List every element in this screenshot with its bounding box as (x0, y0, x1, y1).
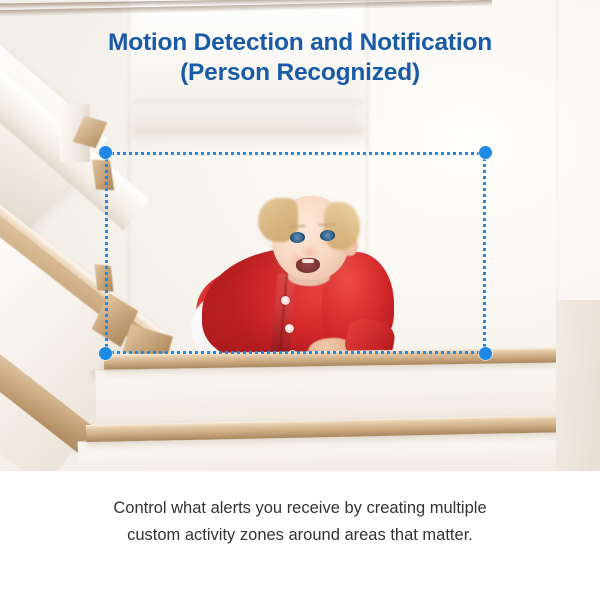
page-title-line-1: Motion Detection and Notification (108, 29, 492, 56)
zone-edge-left[interactable] (105, 152, 108, 354)
zone-handle-bottom-right[interactable] (479, 347, 492, 360)
caption-area: Control what alerts you receive by creat… (0, 471, 600, 600)
page-title: Motion Detection and Notification (Perso… (0, 28, 600, 89)
wall-right-panel (556, 300, 600, 471)
promo-card: Motion Detection and Notification (Perso… (0, 0, 600, 600)
caption-text: Control what alerts you receive by creat… (90, 495, 510, 548)
zone-edge-top[interactable] (105, 152, 486, 155)
zone-edge-right[interactable] (483, 152, 486, 354)
camera-view: Motion Detection and Notification (Perso… (0, 0, 600, 471)
zone-edge-bottom[interactable] (105, 351, 486, 354)
activity-zone-overlay[interactable] (105, 152, 486, 354)
zone-handle-top-right[interactable] (479, 146, 492, 159)
zone-handle-top-left[interactable] (99, 146, 112, 159)
zone-handle-bottom-left[interactable] (99, 347, 112, 360)
window-sill (132, 96, 364, 103)
window-sill (134, 127, 362, 132)
page-title-line-2: (Person Recognized) (0, 58, 600, 88)
